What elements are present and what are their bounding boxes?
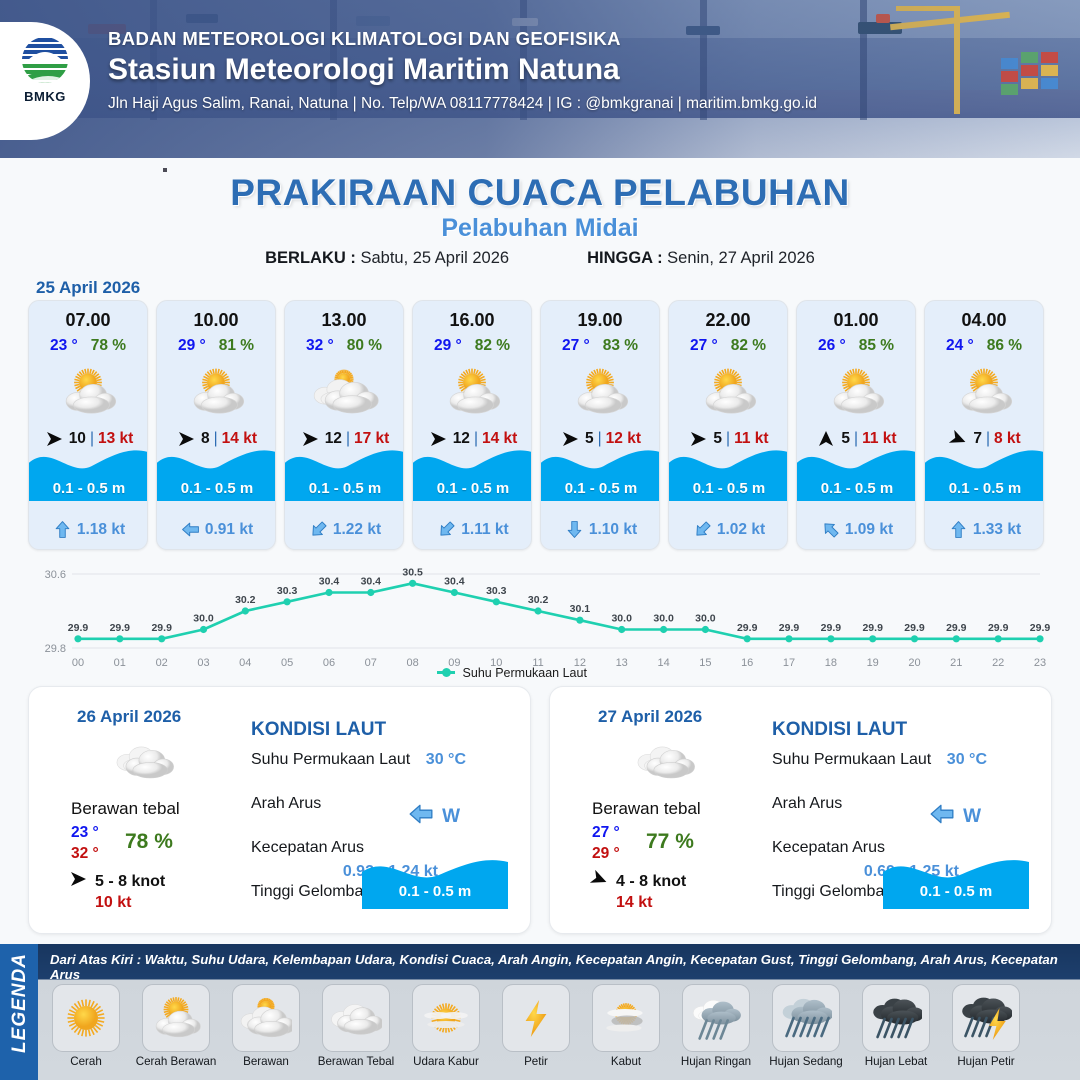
daily-summary-card: 27 April 2026 Berawan tebal 27 ° 29 ° 77… xyxy=(549,686,1052,934)
wave-graphic xyxy=(362,853,508,909)
forecast-temp-humidity-row: 27 ° 83 % xyxy=(541,337,659,355)
forecast-current-row: 1.10 kt xyxy=(541,520,660,539)
validity-row: BERLAKU : Sabtu, 25 April 2026 HINGGA : … xyxy=(0,249,1080,268)
temperature-min: 23 ° xyxy=(71,824,99,842)
forecast-card: 13.00 32 ° 80 % 12 xyxy=(284,300,404,550)
cerah-berawan-icon xyxy=(925,361,1043,423)
bmkg-logo-text: BMKG xyxy=(14,89,76,104)
wind-speed-range: 4 - 8 knot xyxy=(616,873,686,891)
hourly-forecast-row: 07.00 23 ° 78 % 10 | 13 kt xyxy=(28,300,1052,550)
legend-item: Cerah xyxy=(44,984,128,1078)
air-temperature: 32 ° xyxy=(306,337,334,355)
hujan-sedang-icon xyxy=(772,984,840,1052)
svg-text:30.6: 30.6 xyxy=(45,569,66,581)
sea-row-value: 30 °C xyxy=(947,751,987,769)
forecast-current-row: 1.11 kt xyxy=(413,520,532,539)
sea-row-value: 30 °C xyxy=(426,751,466,769)
sea-row-label: Suhu Permukaan Laut xyxy=(251,751,410,769)
relative-humidity: 82 % xyxy=(475,337,510,355)
weather-condition: Berawan tebal xyxy=(71,799,271,819)
current-speed: 1.02 kt xyxy=(717,521,765,539)
wave-graphic xyxy=(883,853,1029,909)
legend-item: Hujan Lebat xyxy=(854,984,938,1078)
air-temperature: 26 ° xyxy=(818,337,846,355)
temperature-max: 32 ° xyxy=(71,845,99,863)
current-speed: 1.33 kt xyxy=(973,521,1021,539)
svg-text:29.9: 29.9 xyxy=(904,622,925,634)
forecast-time: 10.00 xyxy=(157,310,275,331)
current-speed: 1.22 kt xyxy=(333,521,381,539)
cerah-icon xyxy=(52,984,120,1052)
forecast-time: 01.00 xyxy=(797,310,915,331)
legend-icon-row: Cerah Cerah Berawan xyxy=(44,984,1076,1078)
current-direction-label: W xyxy=(442,806,460,828)
forecast-temp-humidity-row: 29 ° 82 % xyxy=(413,337,531,355)
forecast-time: 13.00 xyxy=(285,310,403,331)
summary-wind-row: 4 - 8 knot xyxy=(588,869,686,894)
air-temperature: 27 ° xyxy=(562,337,590,355)
sea-row-value: W xyxy=(408,801,460,832)
current-direction-arrow-icon xyxy=(309,520,328,539)
legend-item: Hujan Sedang xyxy=(764,984,848,1078)
valid-until: HINGGA : Senin, 27 April 2026 xyxy=(587,249,815,268)
legend-item: Kabut xyxy=(584,984,668,1078)
cerah-berawan-icon xyxy=(669,361,787,423)
sea-row-label: Arah Arus xyxy=(251,795,321,813)
cerah-berawan-icon xyxy=(541,361,659,423)
legend-item-label: Kabut xyxy=(584,1055,668,1068)
cerah-berawan-icon xyxy=(157,361,275,423)
sea-row-label: Kecepatan Arus xyxy=(251,839,364,857)
legend-line-marker-icon xyxy=(437,671,455,674)
forecast-card: 01.00 26 ° 85 % 5 | 11 kt xyxy=(796,300,916,550)
svg-text:30.5: 30.5 xyxy=(402,566,423,578)
daily-summary-card: 26 April 2026 Berawan tebal 23 ° 32 ° 78… xyxy=(28,686,531,934)
svg-text:30.0: 30.0 xyxy=(193,613,214,625)
header-text-block: BADAN METEOROLOGI KLIMATOLOGI DAN GEOFIS… xyxy=(108,28,817,113)
current-direction-arrow-icon xyxy=(53,520,72,539)
bmkg-logo: BMKG xyxy=(14,36,76,106)
forecast-temp-humidity-row: 29 ° 81 % xyxy=(157,337,275,355)
page-title: PRAKIRAAN CUACA PELABUHAN xyxy=(0,172,1080,214)
page-header: BMKG BADAN METEOROLOGI KLIMATOLOGI DAN G… xyxy=(0,0,1080,158)
legend-item-label: Berawan Tebal xyxy=(314,1055,398,1068)
legend-item-label: Hujan Sedang xyxy=(764,1055,848,1068)
kabut-icon xyxy=(592,984,660,1052)
forecast-time: 04.00 xyxy=(925,310,1043,331)
station-name: Stasiun Meteorologi Maritim Natuna xyxy=(108,53,817,87)
wave-height: 0.1 - 0.5 m xyxy=(925,480,1044,497)
svg-text:30.0: 30.0 xyxy=(695,613,716,625)
forecast-temp-humidity-row: 24 ° 86 % xyxy=(925,337,1043,355)
relative-humidity: 86 % xyxy=(987,337,1022,355)
relative-humidity: 82 % xyxy=(731,337,766,355)
berawan-icon xyxy=(232,984,300,1052)
udara-kabur-icon xyxy=(412,984,480,1052)
legend-note: Dari Atas Kiri : Waktu, Suhu Udara, Kele… xyxy=(50,952,1080,982)
forecast-time: 19.00 xyxy=(541,310,659,331)
current-speed: 1.10 kt xyxy=(589,521,637,539)
berawan-tebal-icon xyxy=(322,984,390,1052)
berawan-icon xyxy=(285,361,403,423)
current-direction-arrow-icon xyxy=(949,520,968,539)
current-direction-label: W xyxy=(963,806,981,828)
svg-text:29.9: 29.9 xyxy=(862,622,883,634)
legend-item: Hujan Petir xyxy=(944,984,1028,1078)
legend-item-label: Cerah Berawan xyxy=(134,1055,218,1068)
svg-text:30.4: 30.4 xyxy=(319,576,340,588)
valid-until-value: Senin, 27 April 2026 xyxy=(667,249,815,267)
weather-condition: Berawan tebal xyxy=(592,799,792,819)
cerah-berawan-icon xyxy=(413,361,531,423)
svg-text:29.9: 29.9 xyxy=(946,622,967,634)
forecast-current-row: 1.02 kt xyxy=(669,520,788,539)
relative-humidity: 83 % xyxy=(603,337,638,355)
forecast-card: 22.00 27 ° 82 % 5 | 11 kt xyxy=(668,300,788,550)
wave-height: 0.1 - 0.5 m xyxy=(29,480,148,497)
svg-text:30.4: 30.4 xyxy=(444,576,465,588)
svg-text:30.4: 30.4 xyxy=(361,576,382,588)
legend-item-label: Udara Kabur xyxy=(404,1055,488,1068)
sea-row-value: W xyxy=(929,801,981,832)
hujan-ringan-icon xyxy=(682,984,750,1052)
forecast-temp-humidity-row: 27 ° 82 % xyxy=(669,337,787,355)
svg-text:23: 23 xyxy=(1034,657,1046,669)
wave-height: 0.1 - 0.5 m xyxy=(883,883,1029,900)
air-temperature: 24 ° xyxy=(946,337,974,355)
current-direction-arrow-icon xyxy=(929,801,955,832)
wave-height: 0.1 - 0.5 m xyxy=(157,480,276,497)
svg-text:29.9: 29.9 xyxy=(1030,622,1051,634)
svg-text:30.0: 30.0 xyxy=(653,613,674,625)
contact-line: Jln Haji Agus Salim, Ranai, Natuna | No.… xyxy=(108,95,817,113)
cerah-berawan-icon xyxy=(142,984,210,1052)
svg-text:29.9: 29.9 xyxy=(821,622,842,634)
svg-text:29.9: 29.9 xyxy=(988,622,1009,634)
legend-item: Petir xyxy=(494,984,578,1078)
air-temperature: 29 ° xyxy=(178,337,206,355)
cerah-berawan-icon xyxy=(29,361,147,423)
summary-date: 27 April 2026 xyxy=(598,707,702,727)
wave-height: 0.1 - 0.5 m xyxy=(413,480,532,497)
forecast-temp-humidity-row: 32 ° 80 % xyxy=(285,337,403,355)
current-speed: 1.18 kt xyxy=(77,521,125,539)
current-direction-arrow-icon xyxy=(821,520,840,539)
svg-text:29.9: 29.9 xyxy=(151,622,172,634)
forecast-current-row: 1.33 kt xyxy=(925,520,1044,539)
svg-text:30.1: 30.1 xyxy=(570,603,591,615)
svg-text:30.3: 30.3 xyxy=(277,585,298,597)
forecast-time: 16.00 xyxy=(413,310,531,331)
sea-condition-heading: KONDISI LAUT xyxy=(772,719,907,741)
temperature-max: 29 ° xyxy=(592,845,620,863)
svg-text:29.8: 29.8 xyxy=(45,643,66,655)
page-subtitle: Pelabuhan Midai xyxy=(0,214,1080,243)
legend-item: Hujan Ringan xyxy=(674,984,758,1078)
forecast-current-row: 1.09 kt xyxy=(797,520,916,539)
current-speed: 1.09 kt xyxy=(845,521,893,539)
forecast-temp-humidity-row: 23 ° 78 % xyxy=(29,337,147,355)
humidity-value: 77 % xyxy=(646,830,694,854)
svg-text:29.9: 29.9 xyxy=(68,622,89,634)
sea-row-label: Suhu Permukaan Laut xyxy=(772,751,931,769)
wind-speed-range: 5 - 8 knot xyxy=(95,873,165,891)
cerah-berawan-icon xyxy=(797,361,915,423)
current-speed: 0.91 kt xyxy=(205,521,253,539)
valid-from-value: Sabtu, 25 April 2026 xyxy=(360,249,509,267)
sea-row-label: Arah Arus xyxy=(772,795,842,813)
temperature-min: 27 ° xyxy=(592,824,620,842)
sst-chart: 30.629.829.90029.90129.90230.00330.20430… xyxy=(28,560,1052,680)
forecast-card: 04.00 24 ° 86 % 7 | 8 kt xyxy=(924,300,1044,550)
relative-humidity: 78 % xyxy=(91,337,126,355)
wind-gust: 14 kt xyxy=(616,894,652,912)
current-direction-arrow-icon xyxy=(565,520,584,539)
air-temperature: 27 ° xyxy=(690,337,718,355)
valid-from-label: BERLAKU : xyxy=(265,249,356,267)
legend-item-label: Hujan Petir xyxy=(944,1055,1028,1068)
relative-humidity: 81 % xyxy=(219,337,254,355)
hujan-lebat-icon xyxy=(862,984,930,1052)
wave-height: 0.1 - 0.5 m xyxy=(797,480,916,497)
legend-item: Cerah Berawan xyxy=(134,984,218,1078)
wave-height: 0.1 - 0.5 m xyxy=(669,480,788,497)
legend-item: Udara Kabur xyxy=(404,984,488,1078)
forecast-card: 16.00 29 ° 82 % 12 | 14 kt xyxy=(412,300,532,550)
wave-height: 0.1 - 0.5 m xyxy=(285,480,404,497)
svg-text:29.9: 29.9 xyxy=(737,622,758,634)
legend-item-label: Berawan xyxy=(224,1055,308,1068)
forecast-temp-humidity-row: 26 ° 85 % xyxy=(797,337,915,355)
legend-side-tab: LEGENDA xyxy=(0,944,38,1080)
berawan-tebal-icon xyxy=(628,735,702,787)
forecast-time: 07.00 xyxy=(29,310,147,331)
current-direction-arrow-icon xyxy=(437,520,456,539)
forecast-time: 22.00 xyxy=(669,310,787,331)
chart-legend-label: Suhu Permukaan Laut xyxy=(463,666,587,680)
hujan-petir-icon xyxy=(952,984,1020,1052)
svg-text:29.9: 29.9 xyxy=(110,622,131,634)
sea-row-label: Kecepatan Arus xyxy=(772,839,885,857)
current-direction-arrow-icon xyxy=(181,520,200,539)
svg-text:29.9: 29.9 xyxy=(779,622,800,634)
chart-legend: Suhu Permukaan Laut xyxy=(0,666,1024,680)
legend-item: Berawan xyxy=(224,984,308,1078)
forecast-current-row: 1.22 kt xyxy=(285,520,404,539)
legend-item-label: Hujan Ringan xyxy=(674,1055,758,1068)
forecast-card: 07.00 23 ° 78 % 10 | 13 kt xyxy=(28,300,148,550)
current-speed: 1.11 kt xyxy=(461,521,508,539)
air-temperature: 23 ° xyxy=(50,337,78,355)
forecast-date-label: 25 April 2026 xyxy=(36,278,140,298)
relative-humidity: 85 % xyxy=(859,337,894,355)
wind-direction-arrow-icon xyxy=(67,869,89,894)
berawan-tebal-icon xyxy=(107,735,181,787)
current-direction-arrow-icon xyxy=(693,520,712,539)
petir-icon xyxy=(502,984,570,1052)
svg-text:30.0: 30.0 xyxy=(611,613,632,625)
valid-until-label: HINGGA : xyxy=(587,249,662,267)
wind-direction-arrow-icon xyxy=(588,869,610,894)
svg-text:30.2: 30.2 xyxy=(528,594,549,606)
legend-item-label: Petir xyxy=(494,1055,578,1068)
current-direction-arrow-icon xyxy=(408,801,434,832)
legend-side-title: LEGENDA xyxy=(9,943,31,1063)
forecast-card: 10.00 29 ° 81 % 8 | 14 kt xyxy=(156,300,276,550)
svg-text:30.3: 30.3 xyxy=(486,585,507,597)
wave-height: 0.1 - 0.5 m xyxy=(362,883,508,900)
svg-text:30.2: 30.2 xyxy=(235,594,256,606)
relative-humidity: 80 % xyxy=(347,337,382,355)
forecast-card: 19.00 27 ° 83 % 5 | 12 kt xyxy=(540,300,660,550)
valid-from: BERLAKU : Sabtu, 25 April 2026 xyxy=(265,249,509,268)
summary-wind-row: 5 - 8 knot xyxy=(67,869,165,894)
legend-item: Berawan Tebal xyxy=(314,984,398,1078)
bmkg-globe-icon xyxy=(16,36,74,88)
forecast-current-row: 0.91 kt xyxy=(157,520,276,539)
legend-item-label: Cerah xyxy=(44,1055,128,1068)
wave-height: 0.1 - 0.5 m xyxy=(541,480,660,497)
humidity-value: 78 % xyxy=(125,830,173,854)
air-temperature: 29 ° xyxy=(434,337,462,355)
sea-condition-heading: KONDISI LAUT xyxy=(251,719,386,741)
legend-item-label: Hujan Lebat xyxy=(854,1055,938,1068)
wind-gust: 10 kt xyxy=(95,894,131,912)
summary-date: 26 April 2026 xyxy=(77,707,181,727)
agency-name: BADAN METEOROLOGI KLIMATOLOGI DAN GEOFIS… xyxy=(108,28,817,50)
forecast-current-row: 1.18 kt xyxy=(29,520,148,539)
daily-summary-row: 26 April 2026 Berawan tebal 23 ° 32 ° 78… xyxy=(28,686,1052,934)
